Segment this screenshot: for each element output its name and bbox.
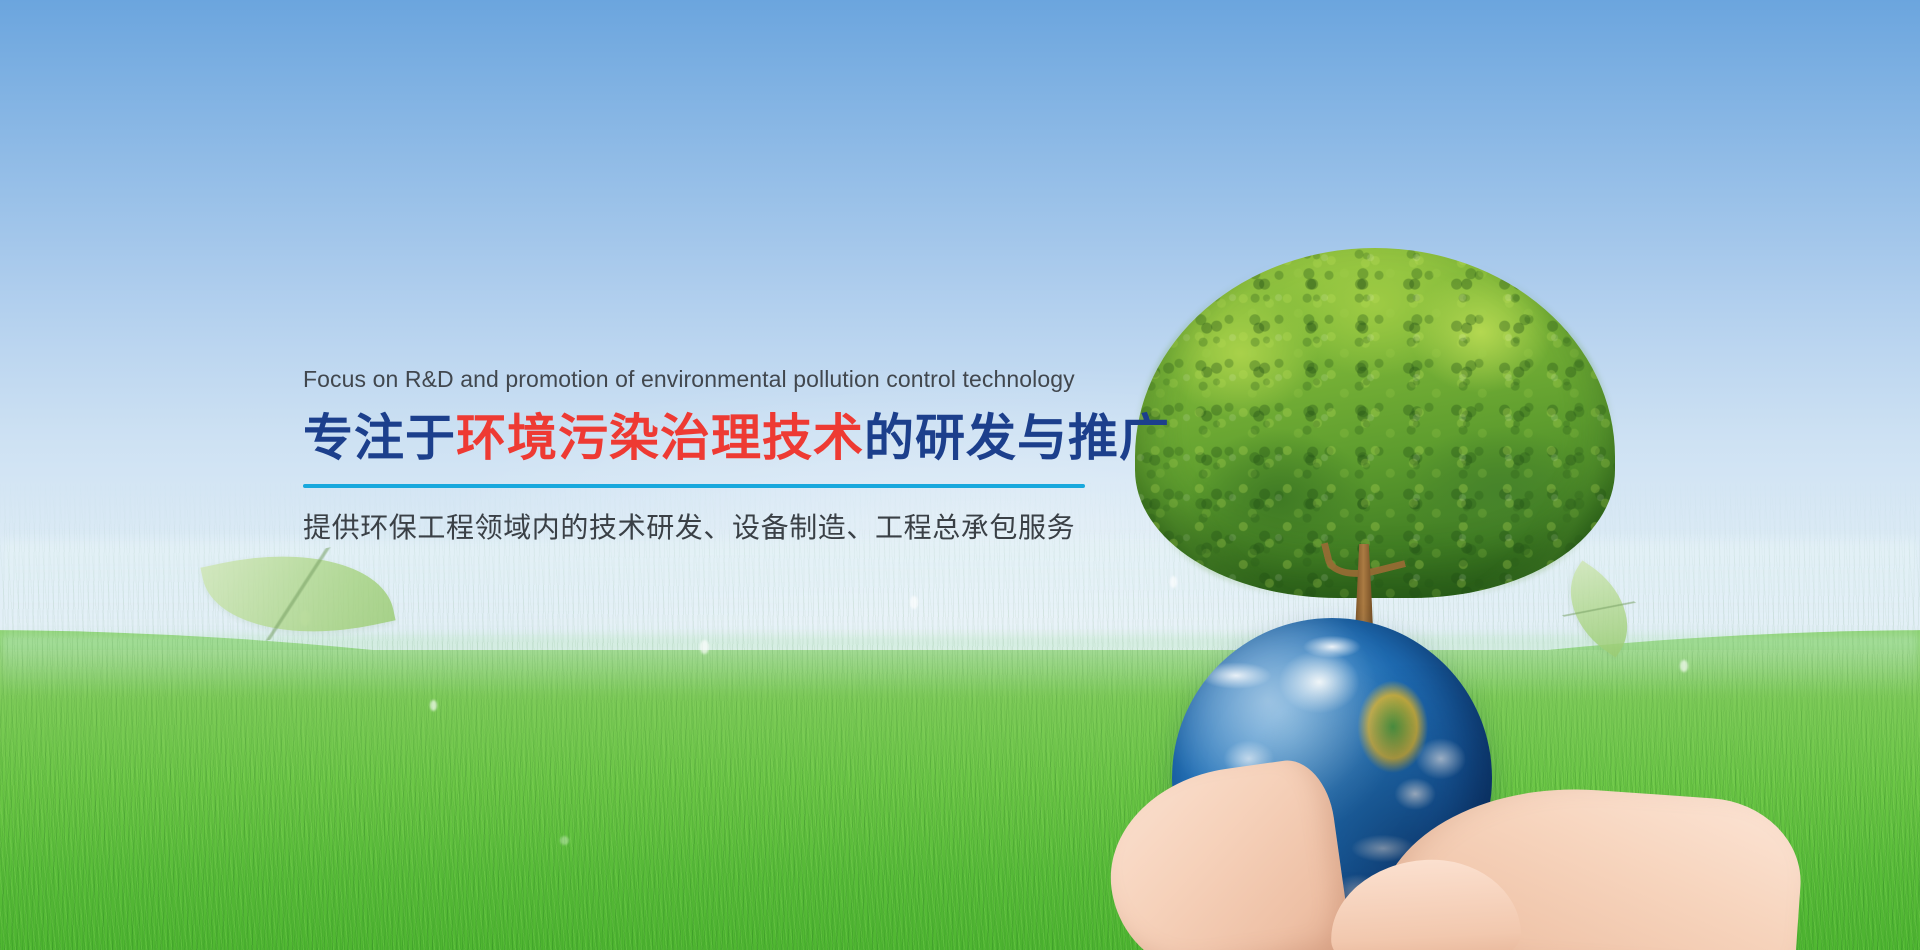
banner-copy-block: Focus on R&D and promotion of environmen…	[303, 365, 1093, 545]
banner-subline-text: 提供环保工程领域内的技术研发、设备制造、工程总承包服务	[303, 510, 1093, 545]
bokeh-speck	[910, 596, 918, 609]
banner-eyebrow-text: Focus on R&D and promotion of environmen…	[303, 365, 1093, 394]
hero-banner: Focus on R&D and promotion of environmen…	[0, 0, 1920, 950]
bokeh-speck	[1680, 660, 1688, 672]
bokeh-speck	[560, 836, 569, 845]
headline-emphasis: 环境污染治理技术	[456, 409, 864, 467]
bokeh-speck	[430, 700, 437, 711]
banner-headline: 专注于环境污染治理技术的研发与推广	[303, 411, 1093, 465]
tree-illustration	[1135, 248, 1615, 668]
headline-lead: 专注于	[303, 409, 456, 467]
meadow-light-band	[0, 635, 1920, 695]
headline-divider	[303, 484, 1085, 488]
bokeh-speck	[700, 640, 709, 654]
headline-tail: 的研发与推广	[864, 409, 1170, 467]
